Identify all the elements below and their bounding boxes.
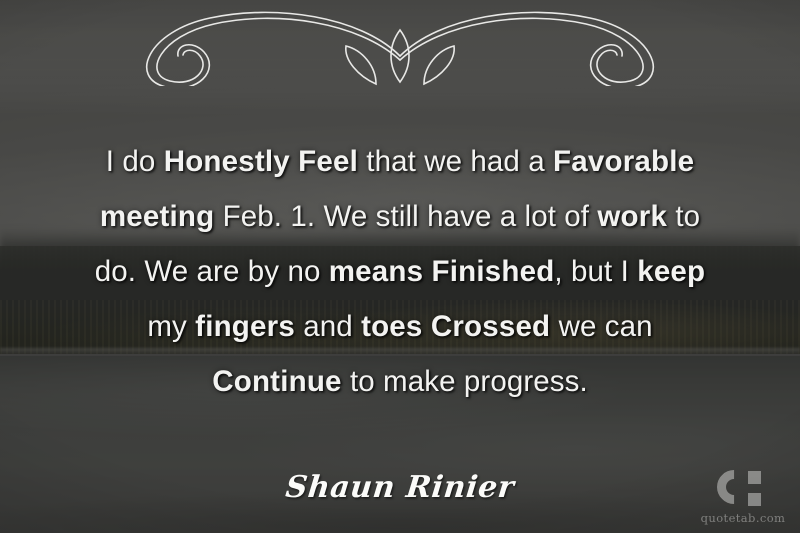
quote-keyword: work	[597, 200, 667, 233]
quote-run: to	[667, 200, 700, 233]
logo-square-top	[748, 471, 761, 484]
quote-line: I do Honestly Feel that we had a Favorab…	[44, 134, 756, 189]
quote-keyword: meeting	[100, 200, 215, 233]
quote-keyword: Favorable	[553, 145, 694, 178]
quote-keyword: Feel	[298, 145, 358, 178]
quote-run: do. We are by no	[95, 255, 329, 288]
quote-line: do. We are by no means Finished, but I k…	[44, 244, 756, 299]
quote-author: Shaun Rinier	[0, 470, 800, 505]
flourish-divider-icon	[70, 8, 730, 86]
quote-run: to make progress.	[342, 365, 588, 398]
quotetab-q-logo-icon	[717, 470, 769, 510]
logo-square-mid	[737, 482, 749, 494]
quote-run: Feb. 1. We still have a lot of	[214, 200, 597, 233]
quote-run	[290, 145, 298, 178]
quote-run	[423, 310, 431, 343]
quote-run: my	[147, 310, 195, 343]
quote-keyword: keep	[637, 255, 705, 288]
quote-keyword: toes	[361, 310, 422, 343]
quote-keyword: Continue	[212, 365, 341, 398]
quote-run: that we had a	[358, 145, 553, 178]
quote-keyword: Crossed	[431, 310, 550, 343]
watermark-label: quotetab.com	[700, 511, 786, 525]
quote-keyword: fingers	[195, 310, 295, 343]
quote-line: meeting Feb. 1. We still have a lot of w…	[44, 189, 756, 244]
quote-line: Continue to make progress.	[44, 354, 756, 409]
quote-keyword: Honestly	[164, 145, 290, 178]
quote-run: I do	[106, 145, 164, 178]
quote-text: I do Honestly Feel that we had a Favorab…	[44, 134, 756, 409]
quote-line: my fingers and toes Crossed we can	[44, 299, 756, 354]
quote-run	[423, 255, 431, 288]
quote-keyword: means	[329, 255, 423, 288]
quote-keyword: Finished	[432, 255, 555, 288]
quote-image-card: I do Honestly Feel that we had a Favorab…	[0, 0, 800, 533]
quote-run: we can	[550, 310, 652, 343]
logo-square-bottom	[748, 493, 761, 506]
quote-run: , but I	[554, 255, 637, 288]
watermark[interactable]: quotetab.com	[700, 470, 786, 525]
quote-run: and	[295, 310, 361, 343]
